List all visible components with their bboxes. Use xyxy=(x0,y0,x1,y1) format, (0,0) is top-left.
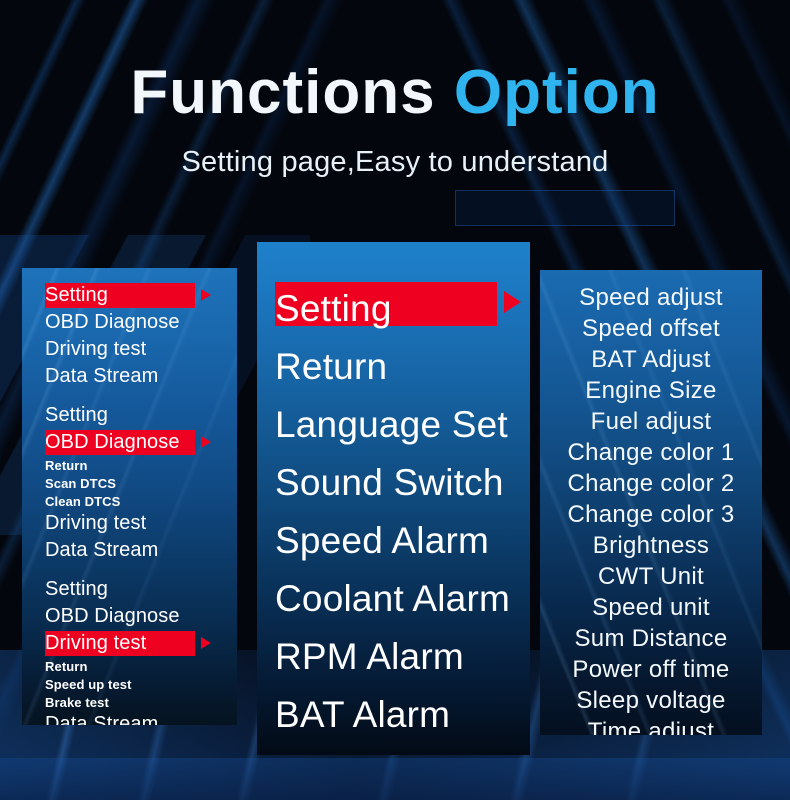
page-title: Functions Option xyxy=(0,62,790,124)
left-menu-item-label: Return xyxy=(45,458,88,473)
left-menu-item-data-stream[interactable]: Data Stream xyxy=(22,363,237,390)
right-option-item-brightness[interactable]: Brightness xyxy=(540,530,762,561)
background-accent-rectangle xyxy=(455,190,675,226)
left-menu-item-driving-test[interactable]: Driving test xyxy=(22,630,237,657)
center-menu-panel: SettingReturnLanguage SetSound SwitchSpe… xyxy=(257,242,530,755)
left-menu-group-2: SettingOBD DiagnoseReturnScan DTCSClean … xyxy=(22,402,237,564)
right-option-item-speed-unit[interactable]: Speed unit xyxy=(540,592,762,623)
center-menu-item-label: BAT Alarm xyxy=(275,694,450,736)
right-option-item-label: Speed offset xyxy=(582,315,720,343)
left-menu-item-data-stream[interactable]: Data Stream xyxy=(22,711,237,725)
left-menu-item-label: OBD Diagnose xyxy=(45,605,180,628)
left-menu-panel: SettingOBD DiagnoseDriving testData Stre… xyxy=(22,268,237,725)
left-menu-group-1: SettingOBD DiagnoseDriving testData Stre… xyxy=(22,282,237,390)
left-menu-item-label: Setting xyxy=(45,578,108,601)
right-option-item-cwt-unit[interactable]: CWT Unit xyxy=(540,561,762,592)
left-menu-item-clean-dtcs[interactable]: Clean DTCS xyxy=(22,492,237,510)
right-option-item-label: Sum Distance xyxy=(575,625,728,653)
left-menu-item-driving-test[interactable]: Driving test xyxy=(22,510,237,537)
left-menu-item-obd-diagnose[interactable]: OBD Diagnose xyxy=(22,429,237,456)
right-option-item-engine-size[interactable]: Engine Size xyxy=(540,375,762,406)
left-menu-item-label: OBD Diagnose xyxy=(45,311,180,334)
left-menu-item-label: Brake test xyxy=(45,695,109,710)
center-menu-item-label: Setting xyxy=(275,288,392,330)
right-option-item-change-color-1[interactable]: Change color 1 xyxy=(540,437,762,468)
center-menu-item-coolant-alarm[interactable]: Coolant Alarm xyxy=(257,570,530,628)
left-menu-item-data-stream[interactable]: Data Stream xyxy=(22,537,237,564)
left-menu-item-label: Driving test xyxy=(45,338,146,361)
left-menu-item-label: Setting xyxy=(45,404,108,427)
triangle-right-icon xyxy=(201,436,211,448)
left-menu-item-setting[interactable]: Setting xyxy=(22,576,237,603)
center-menu-item-return[interactable]: Return xyxy=(257,338,530,396)
promo-graphic-root: Functions Option Setting page,Easy to un… xyxy=(0,0,790,800)
right-option-item-change-color-2[interactable]: Change color 2 xyxy=(540,468,762,499)
center-menu-item-sound-switch[interactable]: Sound Switch xyxy=(257,454,530,512)
left-menu-item-label: Speed up test xyxy=(45,677,132,692)
right-option-item-label: Brightness xyxy=(593,532,709,560)
right-option-item-label: Change color 3 xyxy=(568,501,735,529)
left-menu-item-label: Driving test xyxy=(45,632,146,655)
page-title-accent: Option xyxy=(454,58,660,127)
right-option-item-label: CWT Unit xyxy=(598,563,704,591)
left-menu-item-label: OBD Diagnose xyxy=(45,431,180,454)
left-menu-item-return[interactable]: Return xyxy=(22,456,237,474)
left-menu-item-scan-dtcs[interactable]: Scan DTCS xyxy=(22,474,237,492)
right-option-item-sleep-voltage[interactable]: Sleep voltage xyxy=(540,685,762,716)
page-subtitle: Setting page,Easy to understand xyxy=(0,146,790,179)
left-menu-item-label: Data Stream xyxy=(45,365,158,388)
right-option-item-speed-adjust[interactable]: Speed adjust xyxy=(540,282,762,313)
left-menu-item-speed-up-test[interactable]: Speed up test xyxy=(22,675,237,693)
right-options-panel: Speed adjustSpeed offsetBAT AdjustEngine… xyxy=(540,270,762,735)
right-option-item-label: Speed unit xyxy=(592,594,710,622)
left-menu-group-3: SettingOBD DiagnoseDriving testReturnSpe… xyxy=(22,576,237,725)
right-option-item-label: Sleep voltage xyxy=(576,687,725,715)
left-menu-item-driving-test[interactable]: Driving test xyxy=(22,336,237,363)
center-menu-item-label: Coolant Alarm xyxy=(275,578,510,620)
center-menu-item-rpm-alarm[interactable]: RPM Alarm xyxy=(257,628,530,686)
center-menu-item-label: Return xyxy=(275,346,387,388)
header: Functions Option Setting page,Easy to un… xyxy=(0,0,790,179)
center-menu-item-bat-alarm[interactable]: BAT Alarm xyxy=(257,686,530,744)
center-menu-list: SettingReturnLanguage SetSound SwitchSpe… xyxy=(257,242,530,744)
left-menu-item-label: Data Stream xyxy=(45,539,158,562)
right-option-item-label: Engine Size xyxy=(585,377,716,405)
right-option-item-label: BAT Adjust xyxy=(591,346,711,374)
left-menu-item-label: Driving test xyxy=(45,512,146,535)
left-menu-item-label: Return xyxy=(45,659,88,674)
center-menu-item-speed-alarm[interactable]: Speed Alarm xyxy=(257,512,530,570)
right-option-item-label: Speed adjust xyxy=(579,284,723,312)
left-menu-item-return[interactable]: Return xyxy=(22,657,237,675)
right-option-item-sum-distance[interactable]: Sum Distance xyxy=(540,623,762,654)
triangle-right-icon xyxy=(201,637,211,649)
center-menu-item-label: Language Set xyxy=(275,404,508,446)
page-title-primary: Functions xyxy=(130,58,435,127)
left-menu-item-setting[interactable]: Setting xyxy=(22,282,237,309)
right-option-item-fuel-adjust[interactable]: Fuel adjust xyxy=(540,406,762,437)
right-option-item-speed-offset[interactable]: Speed offset xyxy=(540,313,762,344)
right-option-item-label: Time adjust xyxy=(588,718,714,736)
right-option-item-change-color-3[interactable]: Change color 3 xyxy=(540,499,762,530)
center-menu-item-label: Sound Switch xyxy=(275,462,504,504)
left-menu-item-setting[interactable]: Setting xyxy=(22,402,237,429)
right-option-item-power-off-time[interactable]: Power off time xyxy=(540,654,762,685)
background-floor-band xyxy=(0,758,790,800)
triangle-right-icon xyxy=(201,289,211,301)
left-menu-item-label: Data Stream xyxy=(45,713,158,725)
center-menu-item-label: RPM Alarm xyxy=(275,636,464,678)
right-option-item-label: Change color 2 xyxy=(568,470,735,498)
left-menu-list: SettingOBD DiagnoseDriving testData Stre… xyxy=(22,268,237,725)
right-option-item-time-adjust[interactable]: Time adjust xyxy=(540,716,762,735)
center-menu-item-setting[interactable]: Setting xyxy=(257,280,530,338)
triangle-right-icon xyxy=(504,291,521,313)
right-option-item-bat-adjust[interactable]: BAT Adjust xyxy=(540,344,762,375)
center-menu-item-label: Speed Alarm xyxy=(275,520,489,562)
center-menu-item-language-set[interactable]: Language Set xyxy=(257,396,530,454)
right-option-item-label: Power off time xyxy=(572,656,729,684)
left-menu-item-obd-diagnose[interactable]: OBD Diagnose xyxy=(22,603,237,630)
left-menu-item-label: Scan DTCS xyxy=(45,476,116,491)
right-option-item-label: Change color 1 xyxy=(568,439,735,467)
left-menu-item-obd-diagnose[interactable]: OBD Diagnose xyxy=(22,309,237,336)
right-option-item-label: Fuel adjust xyxy=(591,408,712,436)
left-menu-item-brake-test[interactable]: Brake test xyxy=(22,693,237,711)
right-options-list: Speed adjustSpeed offsetBAT AdjustEngine… xyxy=(540,270,762,735)
left-menu-item-label: Clean DTCS xyxy=(45,494,120,509)
left-menu-item-label: Setting xyxy=(45,284,108,307)
